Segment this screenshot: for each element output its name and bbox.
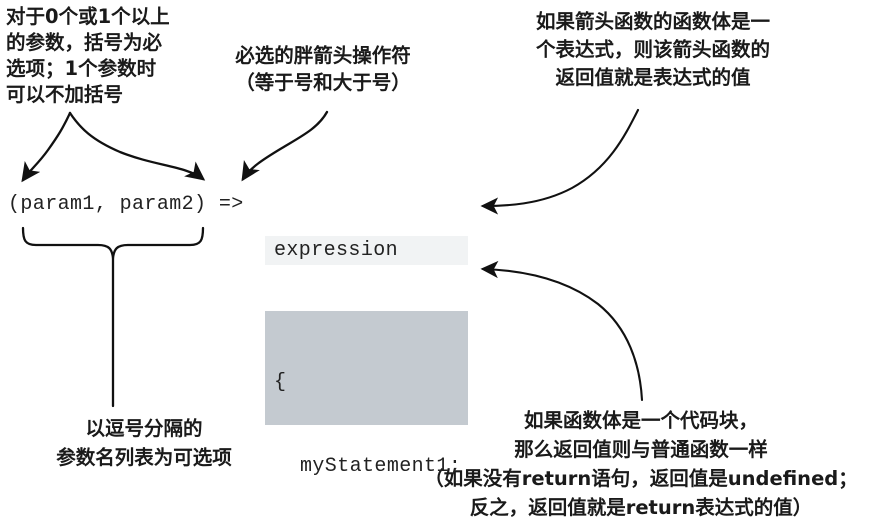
annotation-parentheses: 对于0个或1个以上 的参数，括号为必 选项；1个参数时 可以不加括号 [6, 4, 170, 108]
arrow-function-signature: (param1, param2) => [8, 192, 244, 218]
annotation-block-body: 如果函数体是一个代码块， 那么返回值则与普通函数一样 （如果没有return语句… [406, 406, 876, 522]
brace-under-params [23, 228, 203, 406]
arrow-to-close-paren [70, 113, 203, 179]
arrow-to-fat-arrow [243, 112, 327, 179]
arrow-to-block [483, 269, 642, 400]
code-line-statement-1: myStatement1; [274, 453, 468, 481]
annotation-fat-arrow: 必选的胖箭头操作符 （等于号和大于号） [207, 42, 439, 96]
code-block-body: { myStatement1; myStatement2; } [265, 311, 468, 425]
annotation-expression-body: 如果箭头函数的函数体是一 个表达式，则该箭头函数的 返回值就是表达式的值 [478, 8, 828, 92]
code-line-brace-open: { [274, 369, 468, 397]
code-line-expression: expression [265, 236, 468, 265]
annotation-parameter-list: 以逗号分隔的 参数名列表为可选项 [8, 414, 280, 472]
arrow-to-expression [483, 110, 638, 206]
arrow-to-open-paren [23, 113, 70, 180]
diagram-canvas: 对于0个或1个以上 的参数，括号为必 选项；1个参数时 可以不加括号 必选的胖箭… [0, 0, 879, 530]
function-body-code-block: expression { myStatement1; myStatement2;… [265, 190, 468, 333]
